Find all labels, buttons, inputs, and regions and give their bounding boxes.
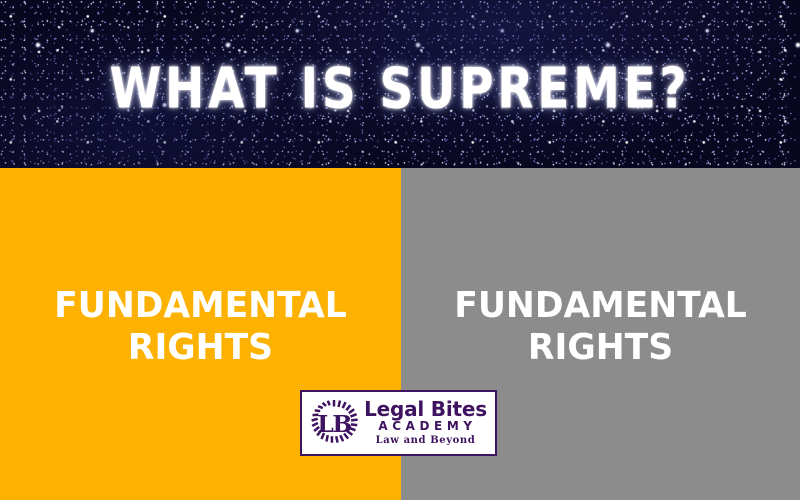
logo-wordmark: Legal Bites ACADEMY Law and Beyond — [359, 399, 490, 447]
svg-text:LB: LB — [317, 410, 351, 438]
comparison-label-left: FUNDAMENTAL RIGHTS — [23, 285, 377, 370]
logo-tagline: Law and Beyond — [376, 435, 476, 447]
logo-monogram-icon: LB — [309, 398, 359, 448]
logo-subtitle: ACADEMY — [374, 420, 476, 434]
brand-logo: LB Legal Bites ACADEMY Law and Beyond — [300, 390, 497, 456]
page-title: WHAT IS SUPREME? — [24, 0, 776, 182]
comparison-label-right: FUNDAMENTAL RIGHTS — [424, 285, 776, 370]
logo-brand-name: Legal Bites — [364, 399, 487, 420]
infographic-canvas: WHAT IS SUPREME? FUNDAMENTAL RIGHTS FUND… — [0, 0, 800, 500]
